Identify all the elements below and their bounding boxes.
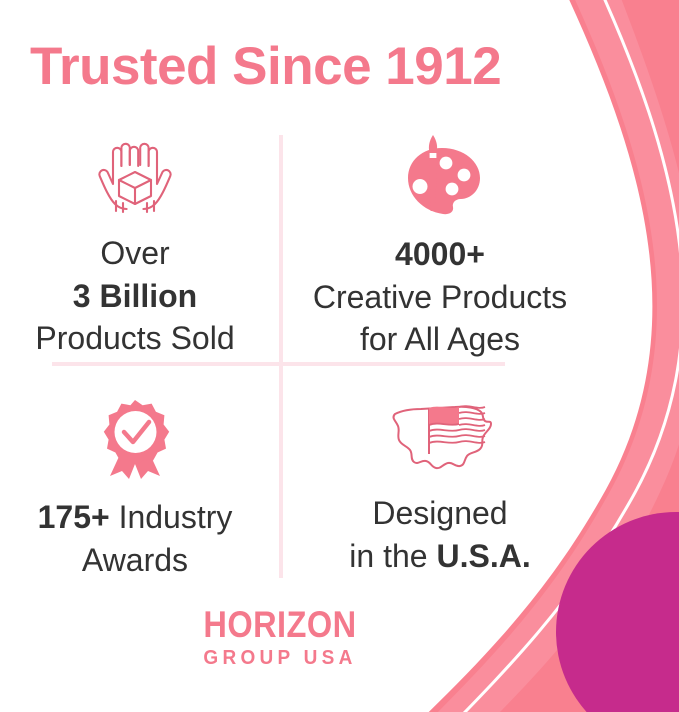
- divider-horizontal: [52, 362, 505, 366]
- usa-map-flag-icon: [381, 396, 499, 478]
- palette-hole: [458, 169, 471, 182]
- feature-line-3: Awards: [38, 539, 233, 582]
- feature-line-1: Designed: [349, 492, 530, 535]
- feature-text: Designed in the U.S.A.: [349, 492, 530, 577]
- divider-vertical: [279, 135, 283, 578]
- feature-products-sold: Over 3 Billion Products Sold: [0, 138, 270, 360]
- feature-line-usa-bottom: in the U.S.A.: [349, 535, 530, 578]
- feature-creative-products: 4000+ Creative Products for All Ages: [290, 131, 590, 361]
- feature-line-1: Over: [35, 232, 234, 275]
- page-title: Trusted Since 1912: [30, 36, 501, 97]
- feature-line-2: in the: [349, 538, 427, 574]
- feature-designed-in-usa: Designed in the U.S.A.: [290, 396, 590, 577]
- feature-text: Over 3 Billion Products Sold: [35, 232, 234, 360]
- feature-line-3: for All Ages: [313, 318, 567, 361]
- brand-logo: HORIZON GROUP USA: [0, 604, 560, 670]
- palette-hole: [413, 179, 428, 194]
- rosette-inner: [115, 411, 157, 453]
- feature-line-3: Products Sold: [35, 317, 234, 360]
- feature-industry-awards: 175+ Industry Awards: [0, 396, 270, 581]
- feature-line-3: U.S.A.: [436, 538, 530, 574]
- palette-hole: [446, 183, 459, 196]
- hands-holding-box-icon: [83, 138, 187, 218]
- feature-line-2: 3 Billion: [35, 275, 234, 318]
- feature-text: 175+ Industry Awards: [38, 496, 233, 581]
- feature-text: 4000+ Creative Products for All Ages: [313, 233, 567, 361]
- award-ribbon-icon: [92, 396, 178, 482]
- palette-hole: [440, 157, 453, 170]
- brand-name: HORIZON: [34, 604, 527, 646]
- feature-line-2: Creative Products: [313, 276, 567, 319]
- infographic-card: Trusted Since 1912: [0, 0, 679, 712]
- feature-line-1: 4000+: [313, 233, 567, 276]
- flag-canton: [429, 407, 459, 425]
- feature-line-awards-top: 175+ Industry: [38, 496, 233, 539]
- feature-line-2: Industry: [119, 499, 233, 535]
- paint-palette-icon: [390, 131, 490, 219]
- feature-line-1: 175+: [38, 499, 110, 535]
- brand-tagline: GROUP USA: [14, 647, 546, 670]
